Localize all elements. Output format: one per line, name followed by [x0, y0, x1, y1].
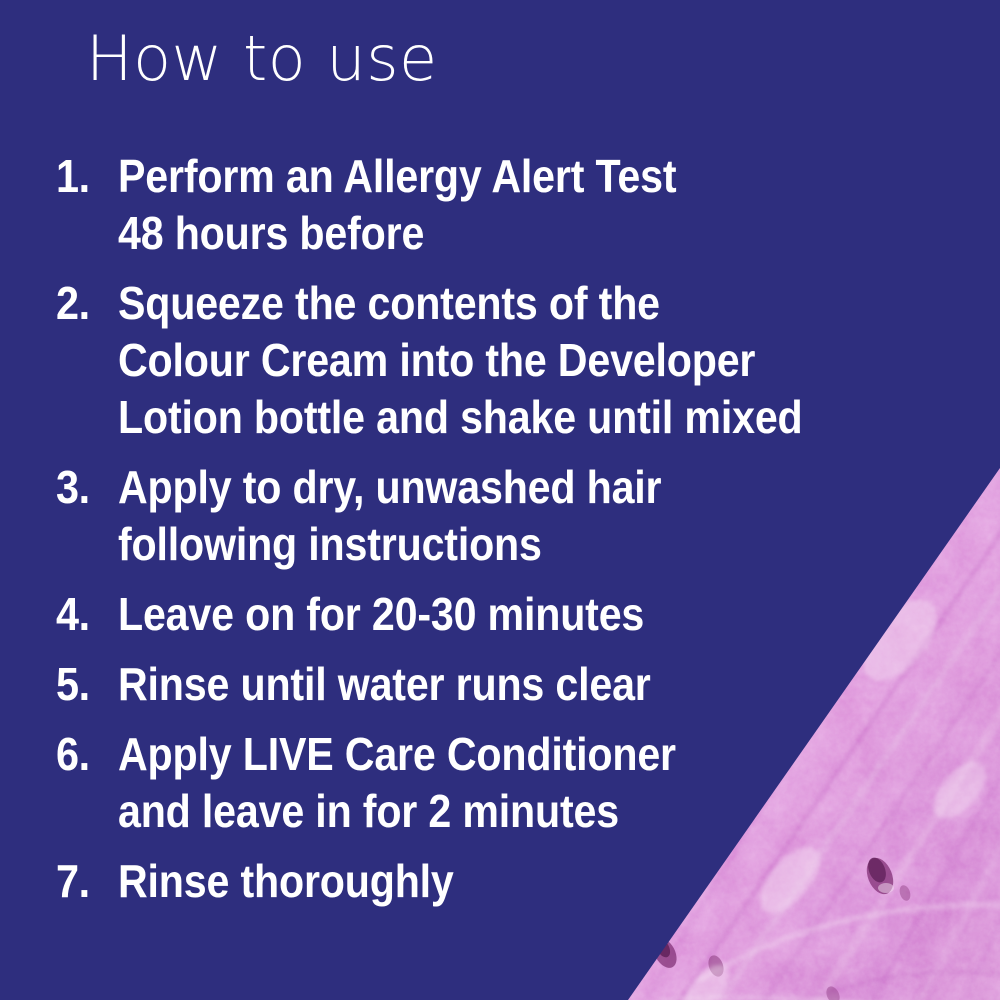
how-to-use-steps-list: 1.Perform an Allergy Alert Test48 hours … [56, 148, 956, 923]
step-text: Rinse thoroughly [118, 853, 956, 910]
step-item: 3.Apply to dry, unwashed hairfollowing i… [56, 459, 956, 573]
step-text-line: 48 hours before [118, 205, 868, 262]
page-title: How to use [86, 28, 438, 90]
step-text: Leave on for 20-30 minutes [118, 586, 956, 643]
step-text-line: Apply to dry, unwashed hair [118, 459, 868, 516]
step-text-line: Squeeze the contents of the [118, 275, 868, 332]
step-text: Rinse until water runs clear [118, 656, 956, 713]
step-text-line: Colour Cream into the Developer [118, 332, 868, 389]
how-to-use-panel: How to use 1.Perform an Allergy Alert Te… [0, 0, 1000, 1000]
step-text-line: following instructions [118, 516, 868, 573]
step-text: Perform an Allergy Alert Test48 hours be… [118, 148, 956, 262]
step-number: 3. [56, 459, 112, 516]
step-number: 5. [56, 656, 112, 713]
step-item: 2.Squeeze the contents of theColour Crea… [56, 275, 956, 446]
step-number: 7. [56, 853, 112, 910]
step-item: 4.Leave on for 20-30 minutes [56, 586, 956, 643]
step-text-line: Perform an Allergy Alert Test [118, 148, 868, 205]
step-number: 1. [56, 148, 112, 205]
step-text-line: and leave in for 2 minutes [118, 783, 868, 840]
step-text-line: Lotion bottle and shake until mixed [118, 389, 868, 446]
step-item: 7.Rinse thoroughly [56, 853, 956, 910]
step-text-line: Rinse until water runs clear [118, 656, 868, 713]
step-text: Squeeze the contents of theColour Cream … [118, 275, 956, 446]
step-item: 6.Apply LIVE Care Conditionerand leave i… [56, 726, 956, 840]
step-item: 1.Perform an Allergy Alert Test48 hours … [56, 148, 956, 262]
step-item: 5.Rinse until water runs clear [56, 656, 956, 713]
step-text: Apply LIVE Care Conditionerand leave in … [118, 726, 956, 840]
step-text-line: Leave on for 20-30 minutes [118, 586, 868, 643]
step-number: 4. [56, 586, 112, 643]
step-number: 2. [56, 275, 112, 332]
step-number: 6. [56, 726, 112, 783]
step-text: Apply to dry, unwashed hairfollowing ins… [118, 459, 956, 573]
step-text-line: Rinse thoroughly [118, 853, 868, 910]
step-text-line: Apply LIVE Care Conditioner [118, 726, 868, 783]
